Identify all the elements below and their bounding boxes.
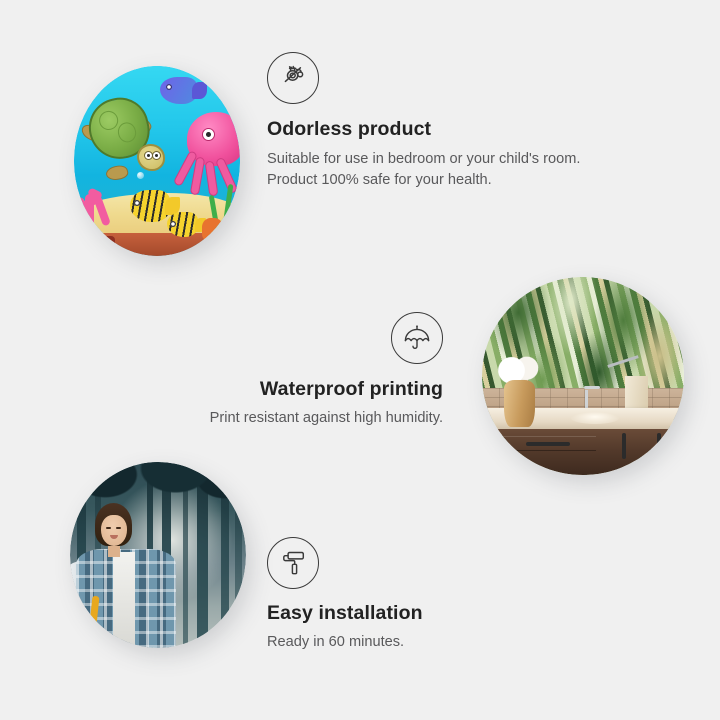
feature-showcase-page: Odorless product Suitable for use in bed… [0, 0, 720, 720]
feature-odorless: Odorless product Suitable for use in bed… [267, 52, 607, 191]
sink-basin [571, 412, 619, 424]
woman-figure [74, 503, 183, 648]
gold-vase [504, 380, 534, 428]
paint-roller-icon [267, 537, 319, 589]
feature-waterproof: Waterproof printing Print resistant agai… [110, 312, 443, 429]
wood-vanity-cabinet [482, 429, 684, 475]
umbrella-icon [391, 312, 443, 364]
feature-install: Easy installation Ready in 60 minutes. [267, 537, 597, 653]
striped-fish-icon [167, 212, 199, 237]
sea-turtle-icon [84, 95, 167, 175]
coral [74, 169, 127, 234]
feature-description: Suitable for use in bedroom or your chil… [267, 149, 607, 191]
feature-title: Odorless product [267, 118, 607, 141]
feature-description: Print resistant against high humidity. [110, 408, 443, 429]
no-odor-icon [267, 52, 319, 104]
bathroom-tropical-wallpaper-photo [482, 277, 684, 475]
striped-fish-icon [130, 190, 170, 222]
underwater-cartoon-mural-photo [74, 66, 240, 256]
feature-description: Ready in 60 minutes. [267, 632, 597, 653]
white-tee [113, 552, 135, 648]
feature-title: Waterproof printing [110, 378, 443, 401]
feature-title: Easy installation [267, 602, 597, 625]
woman-with-paint-roller-forest-photo [70, 462, 246, 648]
starfish-icon [202, 218, 224, 241]
